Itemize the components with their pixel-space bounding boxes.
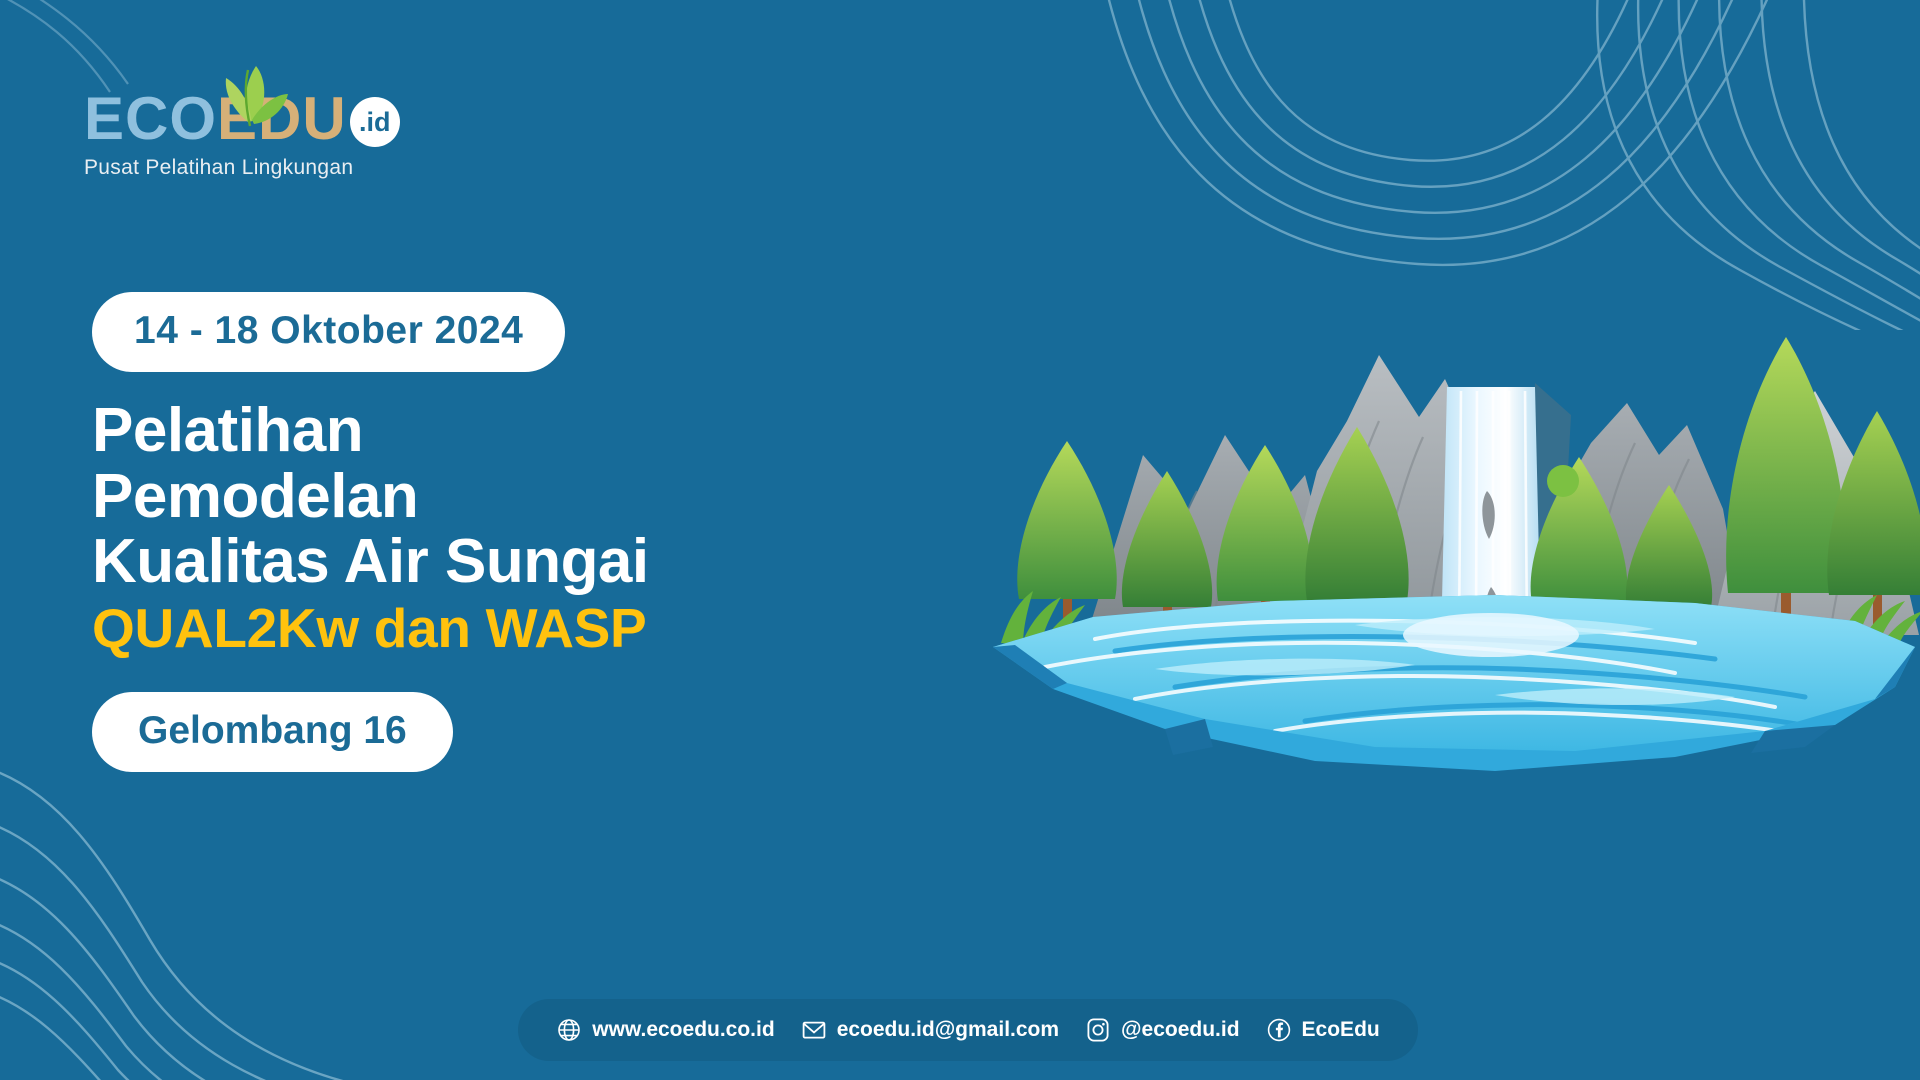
waterfall-river-island-illustration (975, 295, 1920, 800)
headline-line-1: Pelatihan (92, 398, 912, 464)
wave-badge: Gelombang 16 (92, 692, 453, 772)
tree (1726, 337, 1846, 633)
decorative-waves-bottom-left (0, 750, 560, 1080)
contact-facebook[interactable]: EcoEdu (1266, 1017, 1380, 1043)
headline-line-3: Kualitas Air Sungai (92, 529, 912, 595)
brand-logo[interactable]: ECOEDU.id Pusat Pelatihan Lingkungan (84, 88, 424, 180)
logo-tagline: Pusat Pelatihan Lingkungan (84, 156, 424, 180)
logo-wordmark: ECOEDU.id (84, 88, 424, 150)
contact-website-label: www.ecoedu.co.id (592, 1018, 774, 1042)
facebook-icon (1266, 1017, 1292, 1043)
headline-subtitle: QUAL2Kw dan WASP (92, 595, 912, 662)
contact-email-label: ecoedu.id@gmail.com (837, 1018, 1059, 1042)
instagram-icon (1085, 1017, 1111, 1043)
globe-icon (556, 1017, 582, 1043)
contact-email[interactable]: ecoedu.id@gmail.com (801, 1017, 1059, 1043)
decorative-waves-top-right (1040, 0, 1920, 330)
content-column: 14 - 18 Oktober 2024 Pelatihan Pemodelan… (92, 292, 912, 772)
envelope-icon (801, 1017, 827, 1043)
logo-dot-id-badge: .id (350, 97, 400, 147)
date-badge: 14 - 18 Oktober 2024 (92, 292, 565, 372)
contact-instagram[interactable]: @ecoedu.id (1085, 1017, 1240, 1043)
contact-facebook-label: EcoEdu (1302, 1018, 1380, 1042)
river-island (993, 595, 1915, 771)
poster-canvas: ECOEDU.id Pusat Pelatihan Lingkungan 14 … (0, 0, 1920, 1080)
page-title: Pelatihan Pemodelan Kualitas Air Sungai … (92, 398, 912, 662)
headline-line-2: Pemodelan (92, 464, 912, 530)
logo-eco-text: ECO (84, 85, 217, 152)
contact-instagram-label: @ecoedu.id (1121, 1018, 1240, 1042)
leaf-icon (204, 60, 290, 130)
contact-footer-bar: www.ecoedu.co.id ecoedu.id@gmail.com @ec… (518, 999, 1418, 1061)
contact-website[interactable]: www.ecoedu.co.id (556, 1017, 774, 1043)
